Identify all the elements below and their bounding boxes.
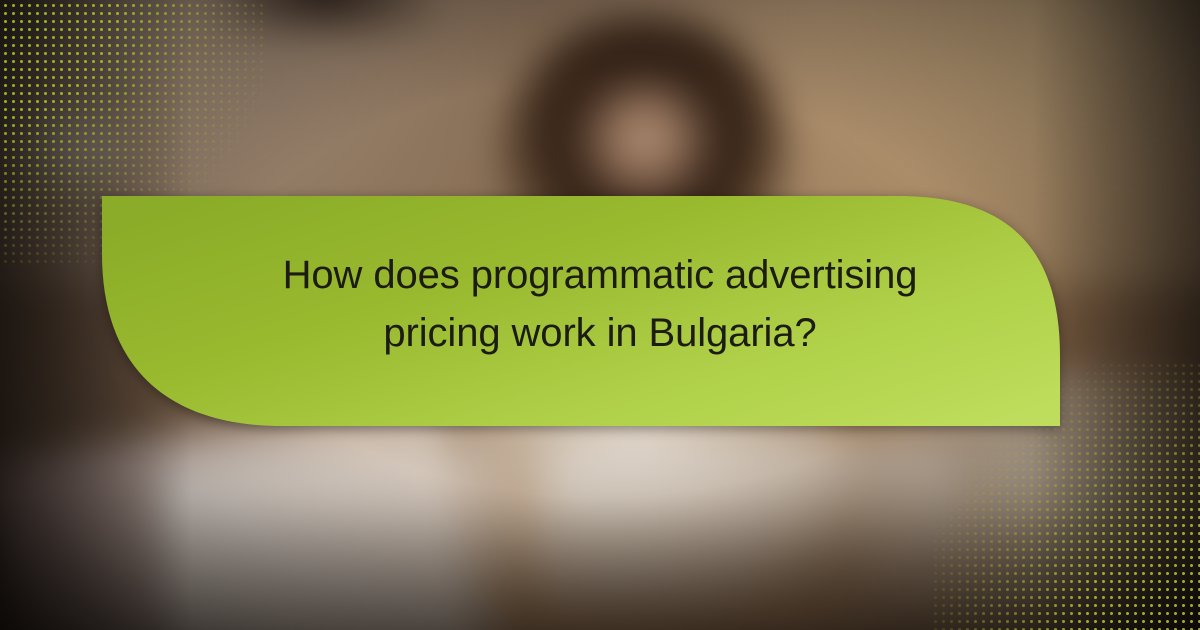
headline-line-2: pricing work in Bulgaria? [383,304,816,362]
headline-text-block: How does programmatic advertising pricin… [102,196,1098,426]
headline-banner: How does programmatic advertising pricin… [102,196,1098,426]
photo-wall-frame-light [0,88,139,202]
social-card: How does programmatic advertising pricin… [0,0,1200,630]
photo-wall-frame-dark [216,0,434,31]
photo-bottom-shadow [0,500,1200,630]
headline-line-1: How does programmatic advertising [283,246,918,304]
photo-person-face [581,81,709,202]
